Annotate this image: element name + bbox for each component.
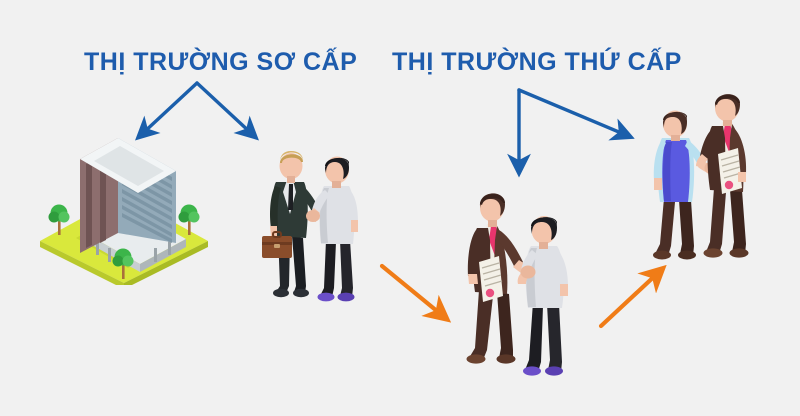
figure-buyer-casual <box>306 157 358 302</box>
certificate-document <box>479 256 503 302</box>
certificate-document-right <box>718 148 742 194</box>
orange-arrow-up-right <box>601 272 659 326</box>
figure-investor-casual <box>518 216 568 376</box>
scene-handshake-businessman-and-buyer <box>256 136 376 308</box>
illustration-canvas: THỊ TRƯỜNG SƠ CẤP THỊ TRƯỜNG THỨ CẤP <box>0 0 800 416</box>
figure-agent-brown-suit-right <box>696 94 749 258</box>
scene-handshake-agent-and-investor <box>455 180 600 395</box>
blue-arrow-secondary-split <box>519 90 626 168</box>
orange-arrow-down-right <box>382 266 443 316</box>
scene-isometric-office-building <box>36 133 212 285</box>
blue-arrow-primary-split <box>142 83 252 134</box>
scene-handshake-investor-and-buyer <box>642 92 777 277</box>
